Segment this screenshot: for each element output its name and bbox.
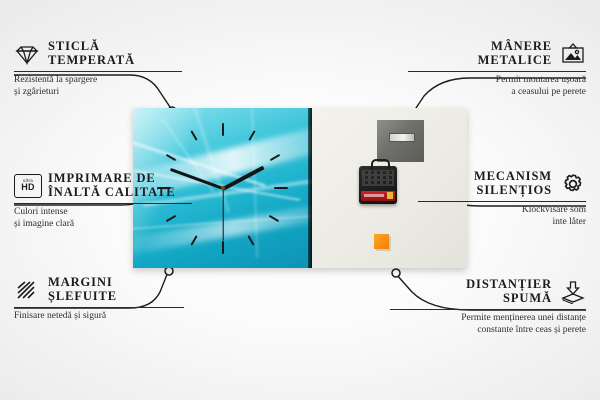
feature-hooks-title: MÂNERE METALICE (478, 40, 552, 67)
feature-glass-title: STICLĂ TEMPERATĂ (48, 40, 135, 67)
clock-center-pin (221, 186, 225, 190)
feature-mechanism: MECANISM SILENȚIOS Klockvisare som inte … (418, 170, 586, 228)
feature-mechanism-head: MECANISM SILENȚIOS (418, 170, 586, 197)
battery (361, 191, 395, 201)
picture-hanger-icon (560, 42, 586, 66)
clock-tick (222, 241, 224, 254)
feature-edges-head: MARGINI ȘLEFUITE (14, 276, 184, 303)
feature-spacer-rule (390, 309, 586, 310)
diamond-icon (14, 42, 40, 66)
polished-edge-icon (14, 278, 40, 302)
feature-hooks-subtitle: Permit montarea ușoară a ceasului pe per… (408, 75, 586, 98)
feature-print-head: ultra HD IMPRIMARE DE ÎNALTĂ CALITATE (14, 172, 192, 199)
feature-spacer-subtitle: Permite menținerea unei distanțe constan… (390, 313, 586, 336)
feature-mechanism-subtitle: Klockvisare som inte låter (418, 205, 586, 228)
feature-hooks-rule (408, 71, 586, 72)
feature-mechanism-rule (418, 201, 586, 202)
gear-icon (560, 172, 586, 196)
hanger-slot (389, 133, 415, 142)
foam-spacer-icon (560, 280, 586, 304)
feature-print-rule (14, 203, 192, 204)
feature-hooks-head: MÂNERE METALICE (408, 40, 586, 67)
feature-print-title: IMPRIMARE DE ÎNALTĂ CALITATE (48, 172, 176, 199)
ultra-hd-icon-large-text: HD (21, 183, 34, 192)
clock-mechanism (359, 166, 397, 204)
feature-spacer: DISTANȚIER SPUMĂ Permite menținerea unei… (390, 278, 586, 336)
connector-dot-spacer (392, 269, 400, 277)
feature-spacer-title: DISTANȚIER SPUMĂ (466, 278, 552, 305)
feature-glass-head: STICLĂ TEMPERATĂ (14, 40, 182, 67)
battery-label (364, 194, 384, 197)
mechanism-texture (362, 170, 394, 186)
metal-hanger-plate (377, 120, 424, 162)
feature-glass: STICLĂ TEMPERATĂ Rezistentă la spargere … (14, 40, 182, 98)
infographic-canvas: STICLĂ TEMPERATĂ Rezistentă la spargere … (0, 0, 600, 400)
feature-glass-subtitle: Rezistentă la spargere și zgârieturi (14, 75, 182, 98)
clock-tick (247, 235, 254, 246)
battery-terminal (387, 192, 393, 199)
feature-spacer-head: DISTANȚIER SPUMĂ (390, 278, 586, 305)
connector-dot-edges (165, 267, 173, 275)
clock-tick (274, 187, 288, 189)
ultra-hd-icon: ultra HD (14, 174, 40, 198)
feature-edges-rule (14, 307, 184, 308)
foam-spacer (374, 234, 389, 249)
feature-print-subtitle: Culori intense și imagine clară (14, 207, 192, 230)
feature-hooks: MÂNERE METALICE Permit montarea ușoară a… (408, 40, 586, 98)
feature-edges-title: MARGINI ȘLEFUITE (48, 276, 117, 303)
mechanism-hanging-loop (371, 159, 390, 170)
clock-tick (222, 123, 224, 136)
feature-mechanism-title: MECANISM SILENȚIOS (474, 170, 552, 197)
clock-second-hand (222, 189, 223, 241)
clock-tick (190, 130, 197, 141)
feature-glass-rule (14, 71, 182, 72)
feature-edges-subtitle: Finisare netedă și sigură (14, 311, 184, 323)
feature-edges: MARGINI ȘLEFUITE Finisare netedă și sigu… (14, 276, 184, 323)
feature-print: ultra HD IMPRIMARE DE ÎNALTĂ CALITATE Cu… (14, 172, 192, 230)
